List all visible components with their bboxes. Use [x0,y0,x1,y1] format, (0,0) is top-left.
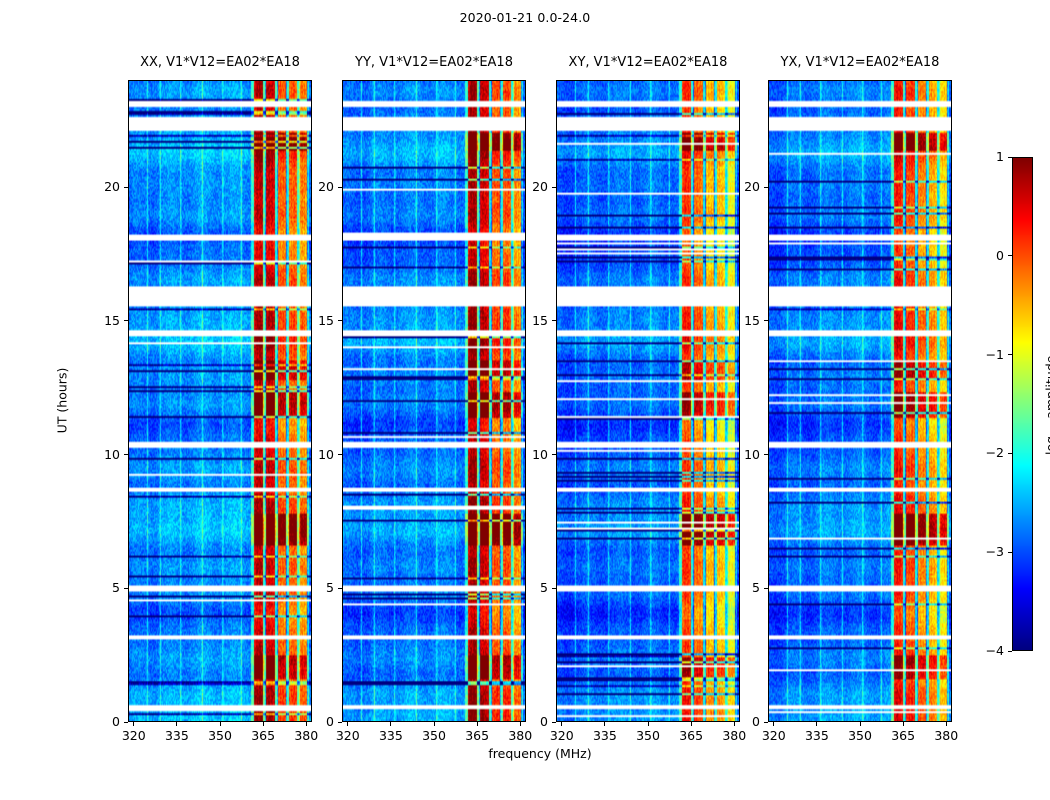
colorbar-tick-mark [1008,651,1012,652]
x-tick-mark [176,722,177,726]
y-tick-label: 10 [68,447,120,462]
y-axis-label: UT (hours) [55,301,70,501]
y-tick-mark [764,454,768,455]
y-tick-mark [124,187,128,188]
x-tick-mark [220,722,221,726]
colorbar-label: log10 amplitude [1043,285,1050,525]
y-tick-mark [124,588,128,589]
waterfall-panel-xx[interactable] [128,80,312,722]
waterfall-image-yx [769,81,951,721]
colorbar-tick-label: 0 [954,248,1004,263]
y-tick-label: 0 [68,714,120,729]
y-tick-label: 5 [68,580,120,595]
colorbar-tick-label: −4 [954,643,1004,658]
y-tick-label: 10 [496,447,548,462]
y-tick-mark [124,454,128,455]
y-tick-mark [552,454,556,455]
y-tick-label: 20 [68,179,120,194]
colorbar-tick-mark [1008,255,1012,256]
colorbar-label-wrapper: log10 amplitude [1042,394,1050,414]
y-tick-label: 20 [496,179,548,194]
colorbar-tick-label: −2 [954,445,1004,460]
y-tick-mark [764,588,768,589]
y-tick-mark [764,320,768,321]
x-tick-mark [816,722,817,726]
y-tick-mark [124,320,128,321]
x-axis-label: frequency (MHz) [128,746,952,761]
y-tick-label: 15 [68,313,120,328]
x-tick-mark [477,722,478,726]
y-tick-label: 0 [708,714,760,729]
x-tick-mark [648,722,649,726]
y-tick-label: 15 [496,313,548,328]
waterfall-image-xx [129,81,311,721]
y-tick-mark [552,187,556,188]
colorbar-tick-label: 1 [954,149,1004,164]
x-tick-mark [263,722,264,726]
y-tick-label: 5 [282,580,334,595]
y-tick-mark [338,454,342,455]
colorbar [1012,157,1033,651]
y-tick-mark [338,588,342,589]
figure-suptitle: 2020-01-21 0.0-24.0 [0,10,1050,25]
y-tick-mark [338,320,342,321]
waterfall-panel-yy[interactable] [342,80,526,722]
x-tick-mark [773,722,774,726]
waterfall-image-xy [557,81,739,721]
y-tick-label: 15 [282,313,334,328]
x-tick-mark [347,722,348,726]
x-tick-mark [946,722,947,726]
colorbar-tick-mark [1008,354,1012,355]
y-tick-label: 5 [708,580,760,595]
x-tick-mark [860,722,861,726]
colorbar-gradient [1013,158,1032,650]
waterfall-panel-xy[interactable] [556,80,740,722]
colorbar-tick-mark [1008,157,1012,158]
colorbar-label-base: log [1043,436,1050,455]
y-tick-label: 5 [496,580,548,595]
y-tick-mark [338,187,342,188]
y-tick-mark [764,187,768,188]
y-tick-label: 20 [282,179,334,194]
y-tick-label: 10 [708,447,760,462]
colorbar-tick-mark [1008,453,1012,454]
y-tick-mark [764,722,768,723]
x-tick-mark [434,722,435,726]
y-tick-mark [552,320,556,321]
waterfall-image-yy [343,81,525,721]
y-axis-label-wrapper: UT (hours) [52,391,72,411]
x-tick-label: 380 [921,728,971,743]
y-tick-mark [552,722,556,723]
colorbar-tick-label: −1 [954,347,1004,362]
x-tick-mark [903,722,904,726]
figure-canvas: 2020-01-21 0.0-24.0 UT (hours) frequency… [0,0,1050,800]
y-tick-mark [124,722,128,723]
colorbar-tick-label: −3 [954,544,1004,559]
waterfall-panel-yx[interactable] [768,80,952,722]
colorbar-tick-mark [1008,552,1012,553]
x-tick-mark [604,722,605,726]
colorbar-label-tail: amplitude [1043,356,1050,423]
x-tick-mark [390,722,391,726]
y-tick-label: 0 [282,714,334,729]
y-tick-label: 20 [708,179,760,194]
x-tick-mark [561,722,562,726]
x-tick-mark [691,722,692,726]
y-tick-label: 10 [282,447,334,462]
y-tick-mark [552,588,556,589]
y-tick-label: 0 [496,714,548,729]
y-tick-label: 15 [708,313,760,328]
panel-title-yx: YX, V1*V12=EA02*EA18 [708,55,1012,70]
x-tick-mark [133,722,134,726]
y-tick-mark [338,722,342,723]
